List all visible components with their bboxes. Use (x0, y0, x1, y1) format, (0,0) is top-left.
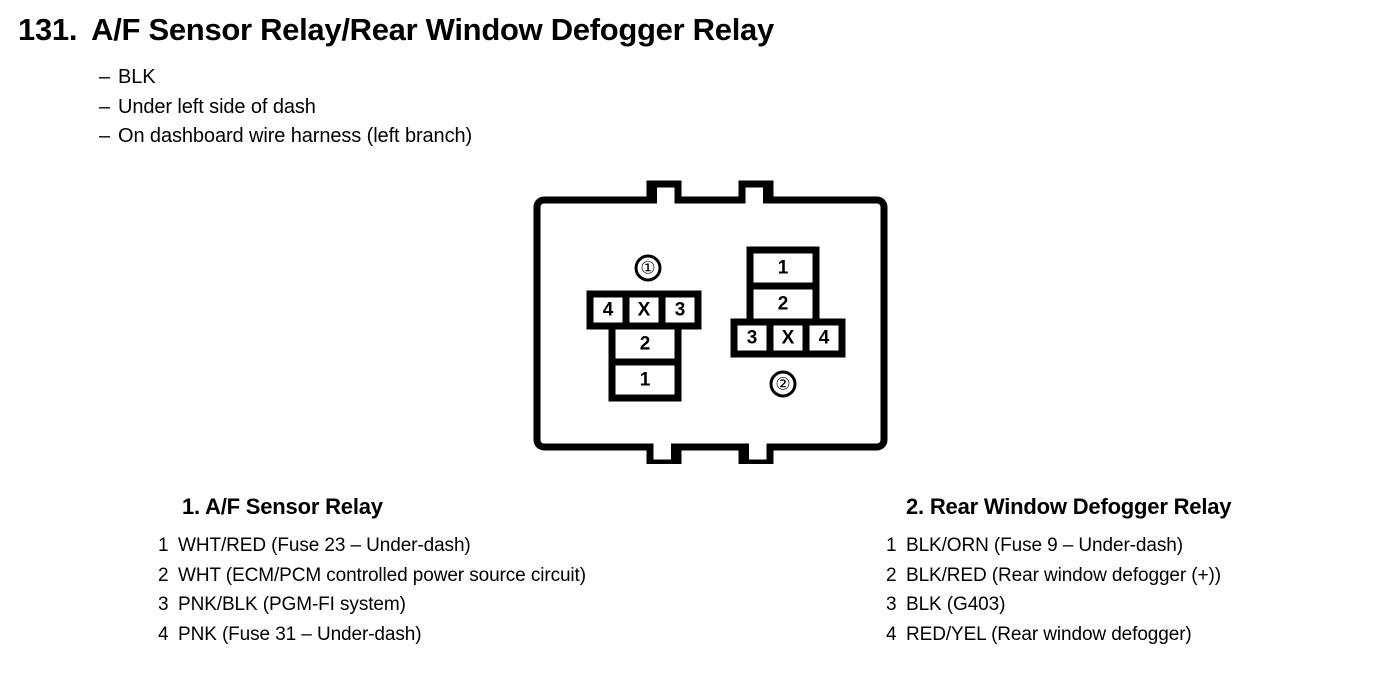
bullet-item-2: –Under left side of dash (99, 93, 472, 123)
legend-title: 1. A/F Sensor Relay (182, 494, 586, 520)
connector-2-marker-number: ② (775, 376, 790, 393)
legend-af-sensor-relay: 1. A/F Sensor Relay 1 WHT/RED (Fuse 23 –… (140, 494, 586, 649)
bullet-text: On dashboard wire harness (left branch) (118, 125, 472, 147)
terminal-2-label-2: 2 (778, 295, 789, 314)
bullet-text: Under left side of dash (118, 96, 316, 118)
terminal-2-label-x: X (782, 329, 795, 348)
bullet-text: BLK (118, 66, 156, 88)
legend-row: 3 BLK (G403) (886, 590, 1231, 620)
terminal-1-label-2: 2 (640, 335, 651, 354)
legend-title: 2. Rear Window Defogger Relay (906, 494, 1231, 520)
legend-pin-description: PNK (Fuse 31 – Under-dash) (178, 620, 421, 650)
terminal-2-label-4: 4 (819, 329, 830, 348)
connector-1-marker-number: ① (640, 260, 655, 277)
legend-pin-description: PNK/BLK (PGM-FI system) (178, 590, 406, 620)
relay-connector-page: 131.A/F Sensor Relay/Rear Window Defogge… (0, 0, 1376, 682)
legend-pin-description: BLK (G403) (906, 590, 1005, 620)
legend-pin-description: RED/YEL (Rear window defogger) (906, 620, 1192, 650)
terminal-1-label-3: 3 (675, 301, 686, 320)
terminal-2-label-1: 1 (778, 259, 789, 278)
legend-pin-number: 4 (158, 620, 178, 650)
bullet-item-3: –On dashboard wire harness (left branch) (99, 122, 472, 152)
legend-row: 1 BLK/ORN (Fuse 9 – Under-dash) (886, 531, 1231, 561)
legend-row-list: 1 BLK/ORN (Fuse 9 – Under-dash) 2 BLK/RE… (886, 531, 1231, 649)
legend-row-list: 1 WHT/RED (Fuse 23 – Under-dash) 2 WHT (… (158, 531, 586, 649)
legend-pin-number: 1 (158, 531, 178, 561)
legend-pin-number: 4 (886, 620, 906, 650)
page-title-text: A/F Sensor Relay/Rear Window Defogger Re… (91, 12, 774, 47)
legend-pin-number: 2 (158, 561, 178, 591)
legend-pin-number: 2 (886, 561, 906, 591)
legend-pin-description: WHT (ECM/PCM controlled power source cir… (178, 561, 586, 591)
legend-pin-description: BLK/RED (Rear window defogger (+)) (906, 561, 1221, 591)
page-title-number: 131. (18, 12, 77, 47)
legend-pin-description: WHT/RED (Fuse 23 – Under-dash) (178, 531, 471, 561)
relay-connector-diagram: 4 X 3 2 1 1 2 3 X 4 ① ② (520, 172, 900, 464)
legend-pin-number: 1 (886, 531, 906, 561)
legend-pin-description: BLK/ORN (Fuse 9 – Under-dash) (906, 531, 1183, 561)
legend-pin-number: 3 (886, 590, 906, 620)
page-title: 131.A/F Sensor Relay/Rear Window Defogge… (18, 12, 774, 48)
bullet-dash-icon: – (99, 122, 118, 152)
bullet-dash-icon: – (99, 63, 118, 93)
terminal-1-label-4: 4 (603, 301, 614, 320)
legend-row: 3 PNK/BLK (PGM-FI system) (158, 590, 586, 620)
bullet-list: –BLK –Under left side of dash –On dashbo… (99, 63, 472, 152)
legend-row: 4 PNK (Fuse 31 – Under-dash) (158, 620, 586, 650)
connector-outline-svg (520, 172, 900, 464)
legend-row: 1 WHT/RED (Fuse 23 – Under-dash) (158, 531, 586, 561)
legend-row: 2 BLK/RED (Rear window defogger (+)) (886, 561, 1231, 591)
legend-row: 2 WHT (ECM/PCM controlled power source c… (158, 561, 586, 591)
bullet-dash-icon: – (99, 93, 118, 123)
terminal-1-label-x: X (638, 301, 651, 320)
terminal-2-label-3: 3 (747, 329, 758, 348)
bullet-item-1: –BLK (99, 63, 472, 93)
legend-rear-window-defogger-relay: 2. Rear Window Defogger Relay 1 BLK/ORN … (868, 494, 1231, 649)
terminal-1-label-1: 1 (640, 371, 651, 390)
legend-row: 4 RED/YEL (Rear window defogger) (886, 620, 1231, 650)
legend-pin-number: 3 (158, 590, 178, 620)
